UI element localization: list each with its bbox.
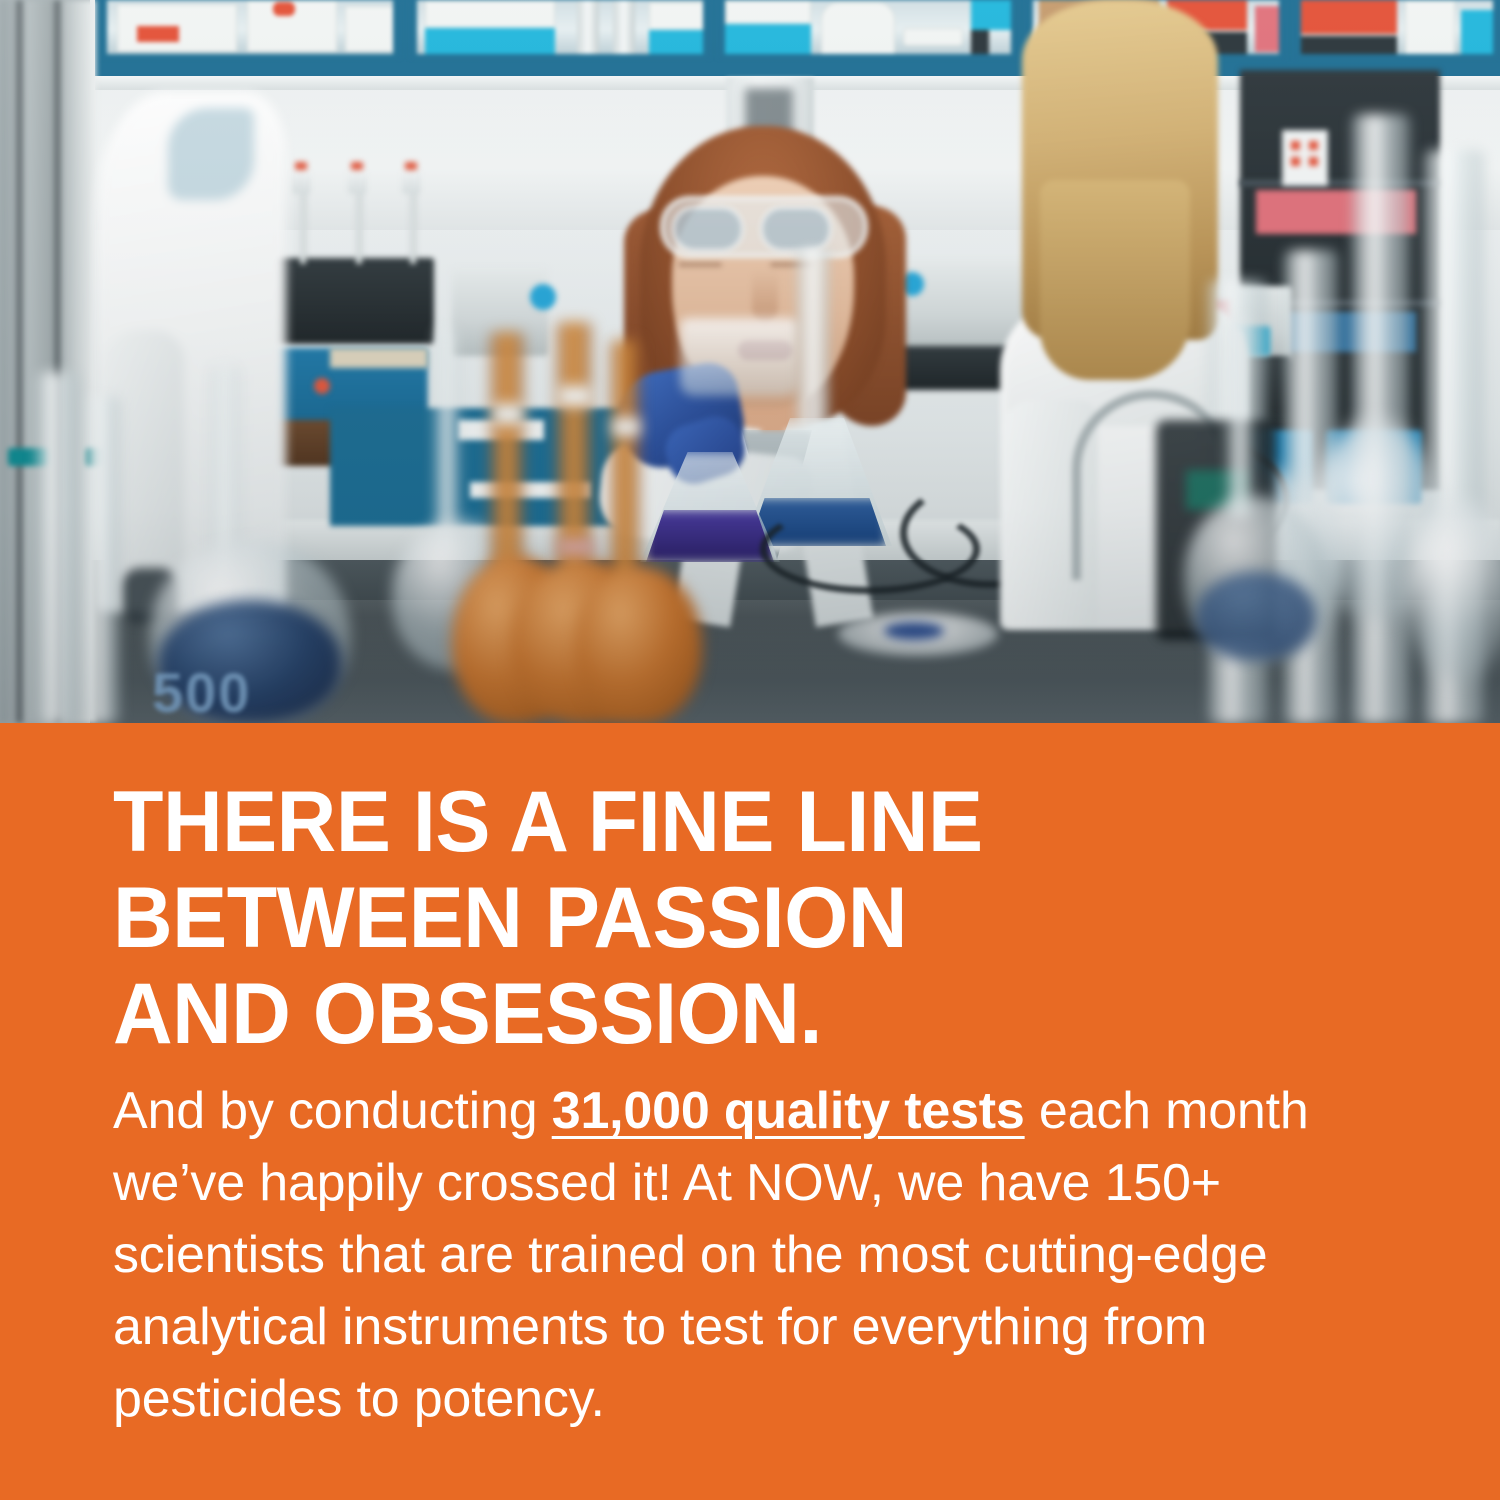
stat-highlight: 31,000 quality tests: [552, 1082, 1025, 1140]
body-lead: And by conducting: [113, 1082, 552, 1140]
foreground-glassware: 500: [0, 0, 1500, 723]
flask-stopper-3: [612, 418, 640, 436]
amber-flask-neck-1: [490, 332, 524, 582]
body-copy: And by conducting 31,000 quality tests e…: [113, 1075, 1375, 1435]
poster: 500: [0, 0, 1500, 1500]
amber-flask-neck-3: [610, 340, 640, 584]
flask-liquid-right: [1196, 572, 1316, 660]
graduated-cylinder-left: [36, 372, 80, 723]
graduated-cylinder-left-2: [86, 396, 120, 723]
amber-flask-bulb-3: [576, 566, 702, 723]
lab-photo: 500: [0, 0, 1500, 723]
flask-neck-right: [1228, 318, 1252, 518]
flask-volume-label: 500: [152, 660, 251, 723]
flask-band: [558, 540, 594, 554]
glass-reflection-3: [1404, 500, 1500, 680]
flask-stopper-2: [558, 386, 592, 406]
graduated-cylinder-right-3: [1352, 114, 1410, 723]
flask-neck-mid: [436, 330, 458, 550]
page-headline: THERE IS A FINE LINE BETWEEN PASSION AND…: [113, 774, 1265, 1062]
flask-stopper-1: [492, 404, 524, 424]
orange-message-panel: THERE IS A FINE LINE BETWEEN PASSION AND…: [0, 723, 1500, 1500]
